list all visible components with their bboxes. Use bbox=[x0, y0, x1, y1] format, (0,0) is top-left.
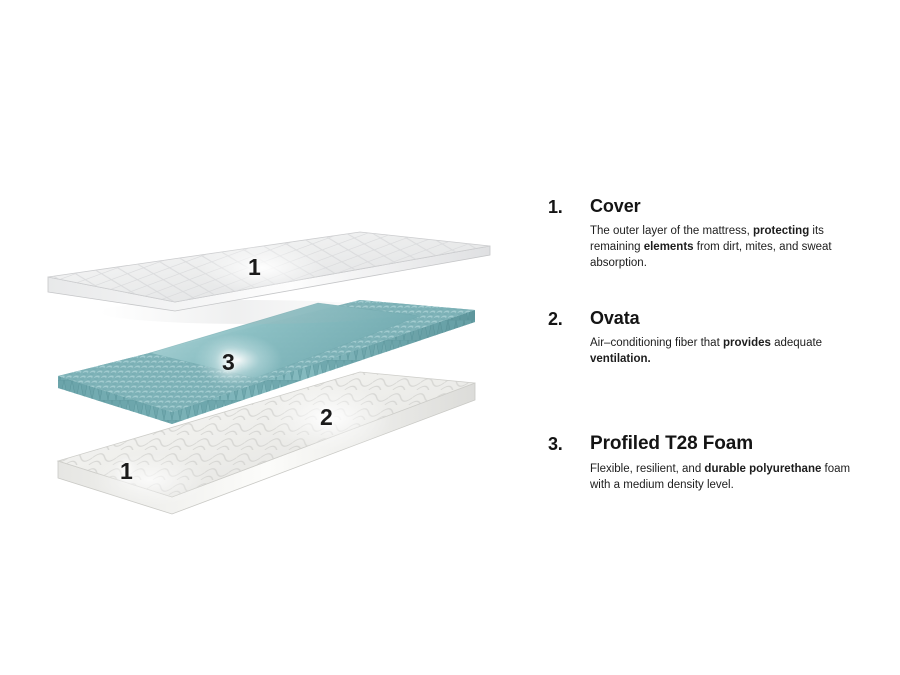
legend-item-cover: 1. Cover The outer layer of the mattress… bbox=[548, 197, 878, 272]
legend-desc-profiled-t28-foam: Flexible, resilient, and durable polyure… bbox=[590, 461, 852, 494]
infographic-canvas: 1 3 2 1 1. Cover The outer layer of the … bbox=[0, 0, 900, 675]
legend-body-2: Ovata Air–conditioning fiber that provid… bbox=[590, 309, 878, 367]
legend-title-ovata: Ovata bbox=[590, 309, 878, 329]
cover-layer-highlight bbox=[198, 242, 326, 294]
mattress-layers-svg bbox=[0, 0, 510, 675]
callout-number-3-ovata: 3 bbox=[222, 351, 235, 374]
legend-title-profiled-t28-foam: Profiled T28 Foam bbox=[590, 434, 878, 455]
legend-index-2: 2. bbox=[548, 309, 586, 330]
legend-item-ovata: 2. Ovata Air–conditioning fiber that pro… bbox=[548, 309, 878, 367]
legend-desc-cover: The outer layer of the mattress, protect… bbox=[590, 223, 852, 272]
base-layer-highlight-2 bbox=[92, 454, 208, 506]
legend-desc-ovata: Air–conditioning fiber that provides ade… bbox=[590, 335, 852, 368]
exploded-mattress-layers-diagram: 1 3 2 1 bbox=[0, 0, 510, 675]
layers-legend: 1. Cover The outer layer of the mattress… bbox=[548, 0, 888, 675]
callout-number-1-base: 1 bbox=[120, 460, 133, 483]
legend-index-3: 3. bbox=[548, 434, 586, 455]
legend-body-1: Cover The outer layer of the mattress, p… bbox=[590, 197, 878, 272]
legend-item-profiled-t28-foam: 3. Profiled T28 Foam Flexible, resilient… bbox=[548, 434, 878, 494]
legend-title-cover: Cover bbox=[590, 197, 878, 217]
callout-number-2-base: 2 bbox=[320, 406, 333, 429]
callout-number-1-cover: 1 bbox=[248, 256, 261, 279]
legend-body-3: Profiled T28 Foam Flexible, resilient, a… bbox=[590, 434, 878, 494]
teal-layer-highlight bbox=[194, 334, 282, 386]
legend-index-1: 1. bbox=[548, 197, 586, 218]
